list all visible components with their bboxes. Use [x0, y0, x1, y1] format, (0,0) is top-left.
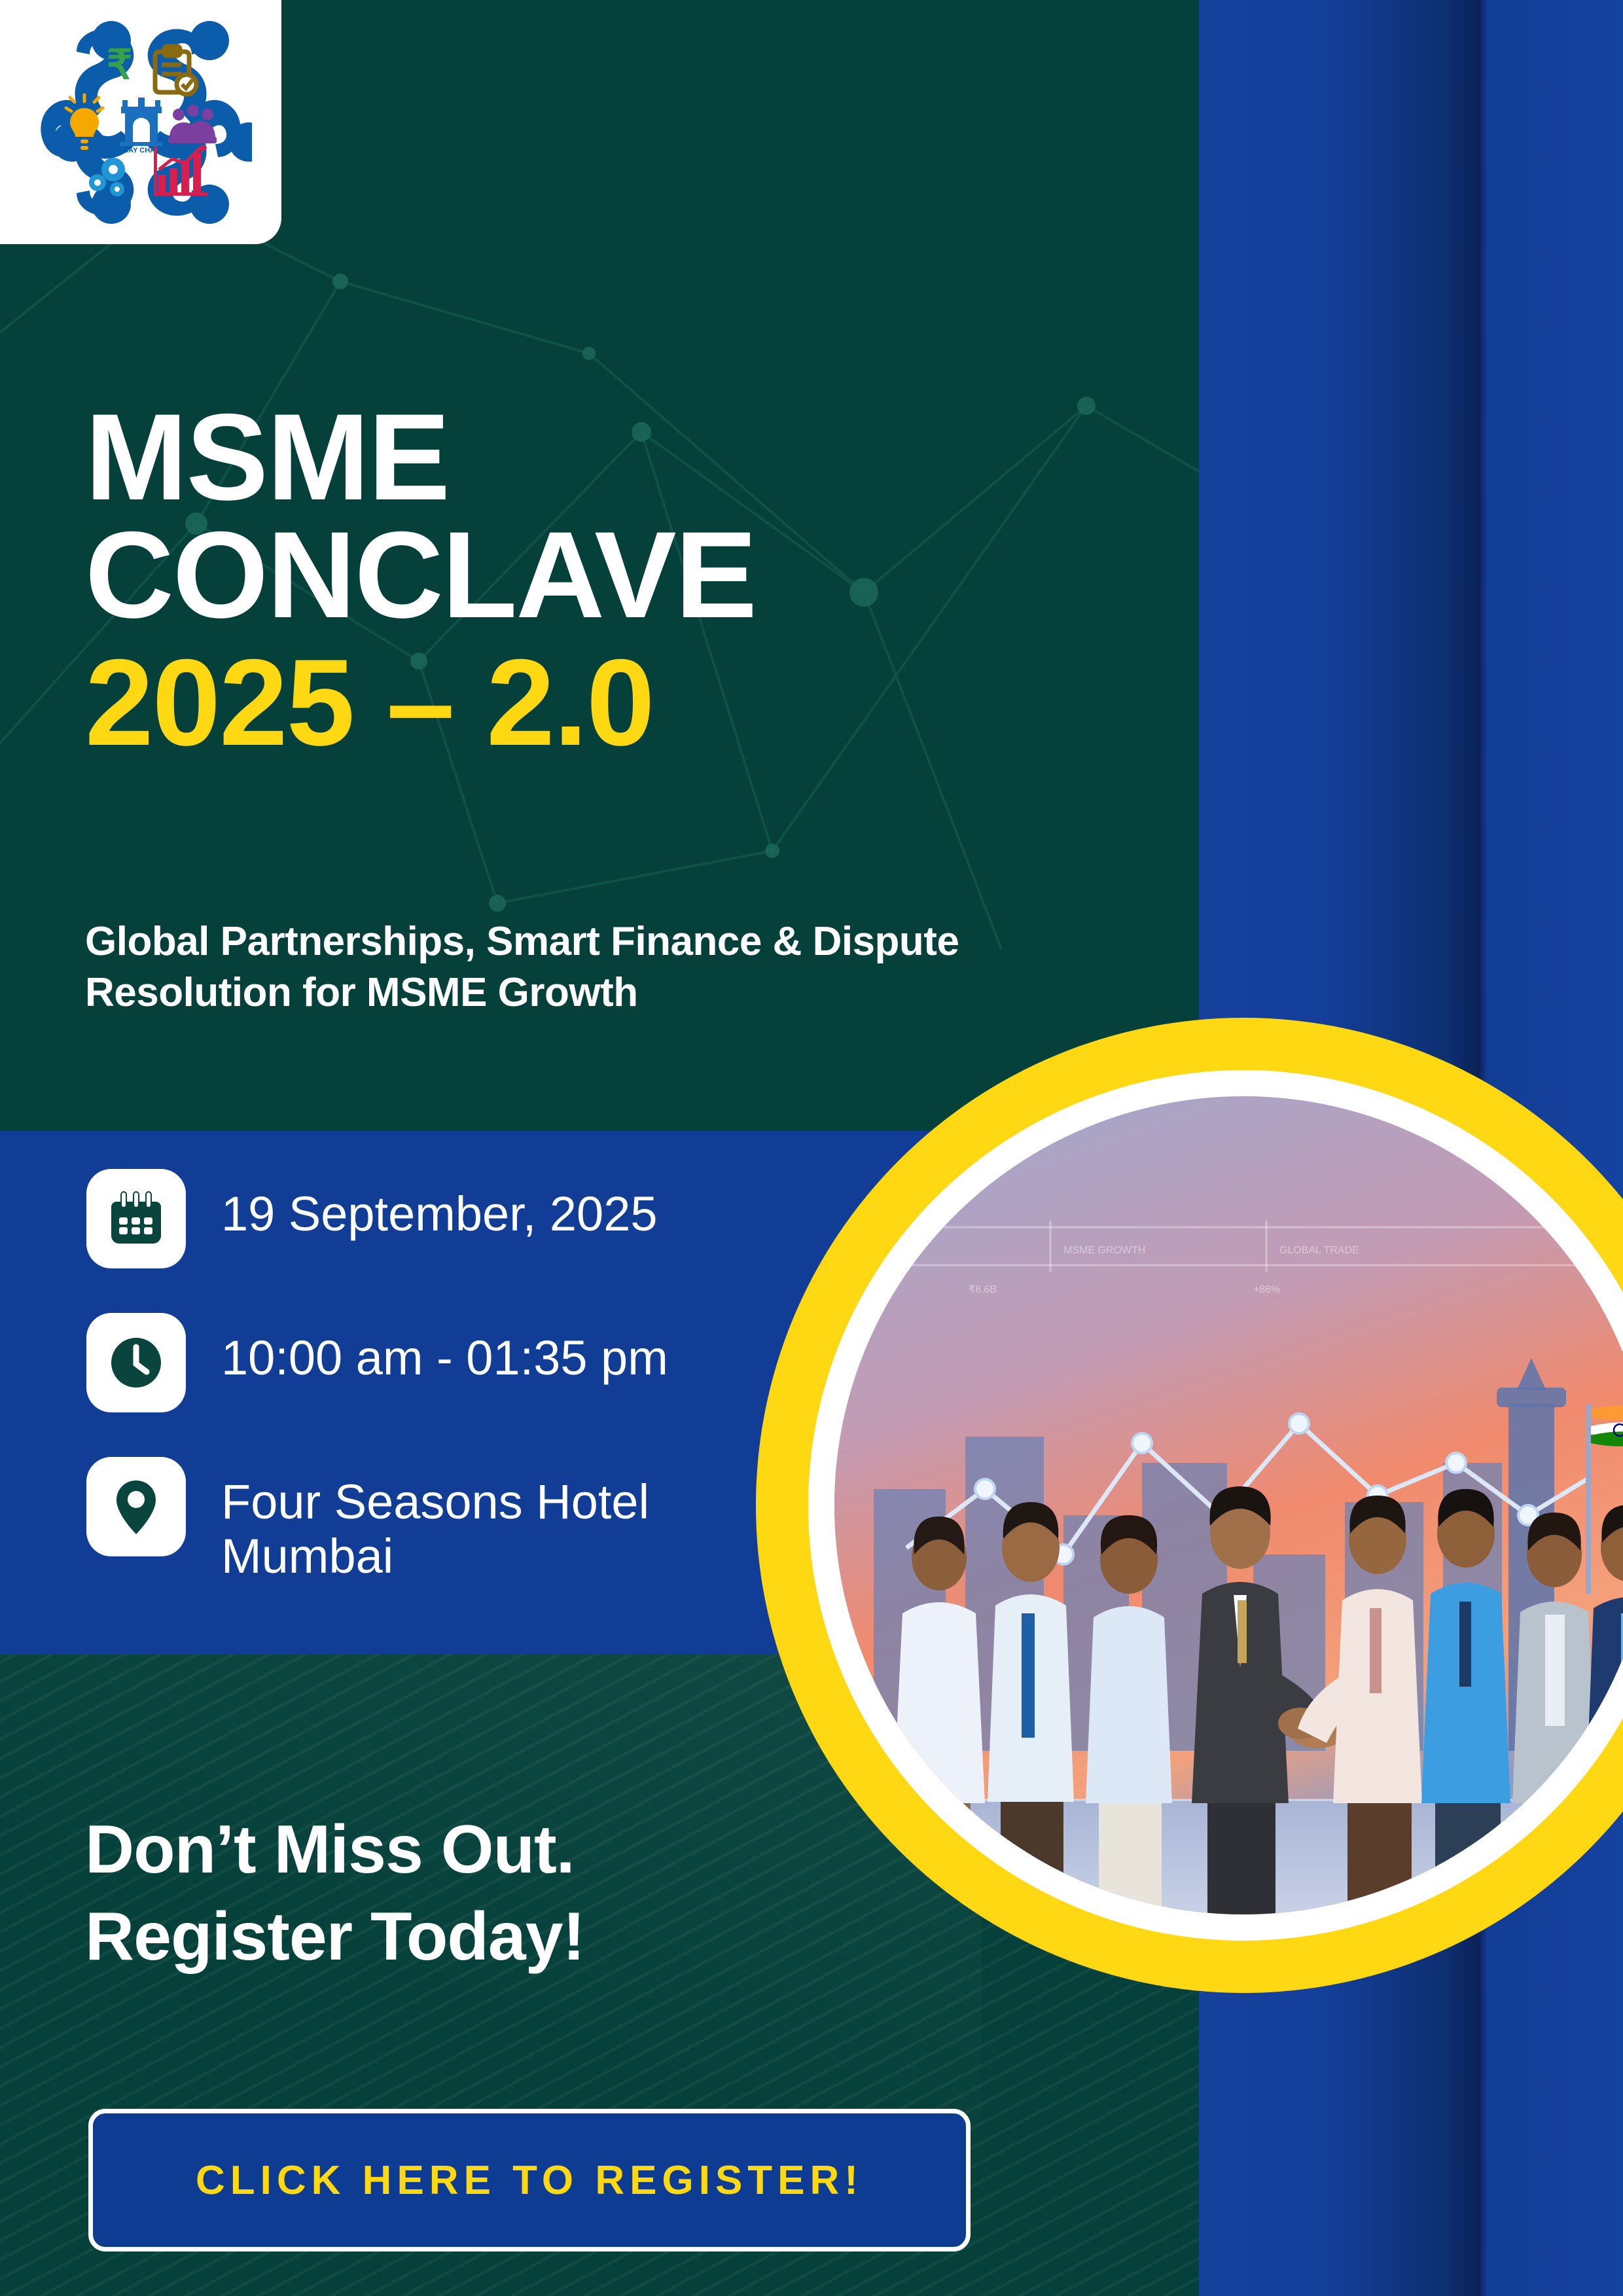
- location-pin-icon: [86, 1457, 186, 1556]
- detail-text-date: 19 September, 2025: [221, 1169, 658, 1242]
- photo-yellow-ring: MSME GROWTHGLOBAL TRADE ₹8.6B+86%: [756, 1018, 1623, 1993]
- cta-text-block: Don’t Miss Out. Register Today!: [85, 1806, 936, 1981]
- headline-line-2: CONCLAVE: [85, 516, 1067, 634]
- svg-text:MSME GROWTH: MSME GROWTH: [1063, 1245, 1145, 1256]
- svg-text:₹8.6B: ₹8.6B: [969, 1284, 997, 1295]
- headline-year: 2025 – 2.0: [85, 641, 1067, 764]
- detail-text-time: 10:00 am - 01:35 pm: [221, 1313, 668, 1386]
- business-handshake-illustration: MSME GROWTHGLOBAL TRADE ₹8.6B+86%: [834, 1096, 1623, 1914]
- headline-block: MSME CONCLAVE 2025 – 2.0: [85, 398, 1067, 764]
- event-subtitle: Global Partnerships, Smart Finance & Dis…: [85, 916, 1106, 1018]
- detail-row-venue: Four Seasons Hotel Mumbai: [86, 1457, 806, 1584]
- detail-row-date: 19 September, 2025: [86, 1169, 806, 1268]
- poster-canvas: ₹: [0, 0, 1623, 2296]
- bombay-chamber-logo: ₹: [29, 18, 252, 227]
- people-group-icon: [168, 105, 217, 143]
- cta-line-1: Don’t Miss Out.: [85, 1806, 936, 1893]
- location-pin-icon-svg: [105, 1475, 168, 1538]
- logo-card: ₹: [0, 0, 281, 244]
- cta-line-2: Register Today!: [85, 1893, 936, 1981]
- detail-text-venue: Four Seasons Hotel Mumbai: [221, 1457, 649, 1584]
- rupee-icon: ₹: [107, 43, 132, 88]
- calendar-icon-svg: [105, 1187, 168, 1250]
- register-button-label: CLICK HERE TO REGISTER!: [196, 2157, 863, 2204]
- gateway-of-india-icon: [120, 98, 163, 146]
- detail-row-time: 10:00 am - 01:35 pm: [86, 1313, 806, 1412]
- svg-text:GLOBAL TRADE: GLOBAL TRADE: [1279, 1245, 1359, 1256]
- clock-icon: [86, 1313, 186, 1412]
- calendar-icon: [86, 1169, 186, 1268]
- svg-text:₹: ₹: [107, 43, 132, 88]
- event-details-list: 19 September, 2025 10:00 am - 01:35 pm F…: [86, 1169, 806, 1584]
- headline-line-1: MSME: [85, 398, 1067, 516]
- svg-text:+86%: +86%: [1253, 1284, 1280, 1295]
- logo-caption: BOMBAY CHAMBER: [107, 147, 177, 154]
- photo-white-ring: MSME GROWTHGLOBAL TRADE ₹8.6B+86%: [808, 1070, 1623, 1941]
- clock-icon-svg: [105, 1331, 168, 1394]
- register-button[interactable]: CLICK HERE TO REGISTER!: [88, 2109, 971, 2251]
- business-handshake-photo: MSME GROWTHGLOBAL TRADE ₹8.6B+86%: [834, 1096, 1623, 1914]
